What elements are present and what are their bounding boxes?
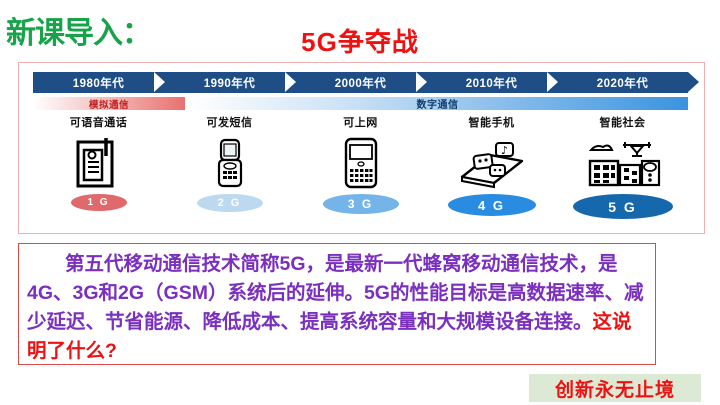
generation-badge: 1 G <box>71 194 127 211</box>
timeline-chevron: 1980年代 <box>33 72 164 93</box>
footer-slogan: 创新永无止境 <box>529 374 701 402</box>
capability-label: 智能社会 <box>600 114 646 130</box>
generation-column-5g: 智能社会 <box>557 113 688 229</box>
generation-columns: 可语音通话 1 G 可发短信 <box>33 113 688 229</box>
timeline-chevron: 2000年代 <box>295 72 426 93</box>
capability-label: 智能手机 <box>469 114 515 130</box>
svg-text:♪: ♪ <box>501 144 508 157</box>
mobile-generations-infographic: 1980年代 1990年代 2000年代 2010年代 2020年代 模拟通信 … <box>18 62 705 234</box>
brick-phone-icon <box>76 134 122 192</box>
analog-era-label: 模拟通信 <box>33 97 185 110</box>
description-paragraph: 第五代移动通信技术简称5G，是最新一代蜂窝移动通信技术，是4G、3G和2G（GS… <box>27 250 647 366</box>
generation-badge: 2 G <box>197 194 263 212</box>
generation-badge: 5 G <box>573 194 673 219</box>
description-textbox: 第五代移动通信技术简称5G，是最新一代蜂窝移动通信技术，是4G、3G和2G（GS… <box>18 243 656 365</box>
slide-header: 新课导入： 5G争夺战 <box>0 0 720 58</box>
flip-phone-icon <box>215 134 245 192</box>
timeline-chevron: 1990年代 <box>164 72 295 93</box>
generation-badge: 4 G <box>448 194 536 216</box>
decade-timeline: 1980年代 1990年代 2000年代 2010年代 2020年代 <box>33 72 688 93</box>
generation-column-1g: 可语音通话 1 G <box>33 113 164 229</box>
description-body: 第五代移动通信技术简称5G，是最新一代蜂窝移动通信技术，是4G、3G和2G（GS… <box>27 253 643 333</box>
touchscreen-chat-icon: ♪ <box>456 134 528 192</box>
capability-label: 可上网 <box>343 114 378 130</box>
timeline-chevron: 2020年代 <box>557 72 688 93</box>
capability-label: 可发短信 <box>207 114 253 130</box>
keypad-smartphone-icon <box>342 134 380 192</box>
page-title: 5G争夺战 <box>0 22 720 59</box>
generation-badge: 3 G <box>323 194 399 214</box>
digital-era-label: 数字通信 <box>187 97 688 110</box>
generation-column-3g: 可上网 <box>295 113 426 229</box>
capability-label: 可语音通话 <box>70 114 128 130</box>
generation-column-4g: 智能手机 ♪ 4 G <box>426 113 557 229</box>
timeline-chevron: 2010年代 <box>426 72 557 93</box>
generation-column-2g: 可发短信 2 G <box>164 113 295 229</box>
smart-city-drone-icon <box>585 134 661 192</box>
